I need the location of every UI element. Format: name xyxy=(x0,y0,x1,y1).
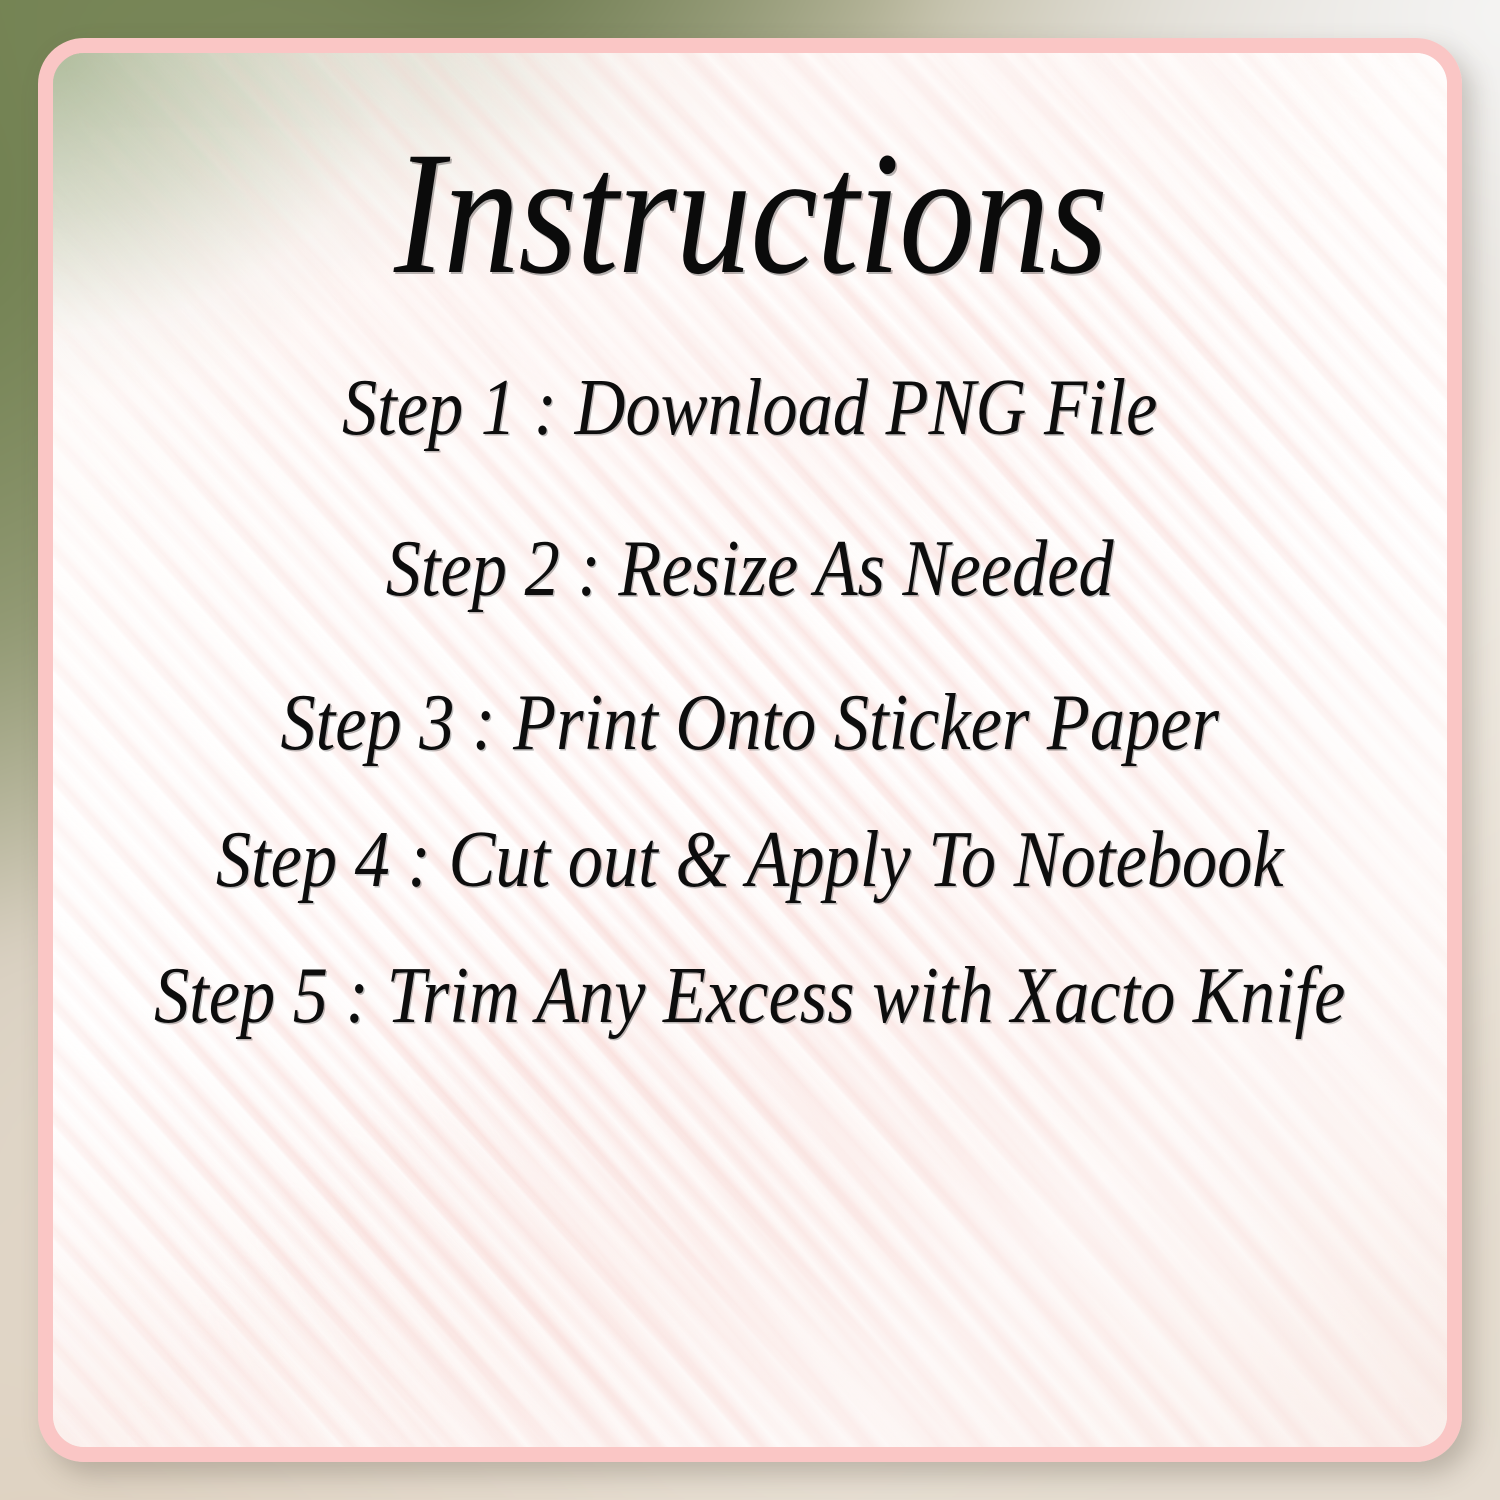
step-item-1: Step 1 : Download PNG File xyxy=(120,364,1380,454)
instructions-card: Instructions Step 1 : Download PNG File … xyxy=(38,38,1462,1462)
instructions-graphic: Instructions Step 1 : Download PNG File … xyxy=(0,0,1500,1500)
steps-list: Step 1 : Download PNG File Step 2 : Resi… xyxy=(111,350,1389,1042)
step-item-4: Step 4 : Cut out & Apply To Notebook xyxy=(120,816,1380,906)
step-item-3: Step 3 : Print Onto Sticker Paper xyxy=(120,679,1380,769)
step-item-2: Step 2 : Resize As Needed xyxy=(120,525,1380,615)
step-item-5: Step 5 : Trim Any Excess with Xacto Knif… xyxy=(120,952,1380,1042)
card-content: Instructions Step 1 : Download PNG File … xyxy=(53,53,1447,1447)
page-title: Instructions xyxy=(394,121,1107,308)
